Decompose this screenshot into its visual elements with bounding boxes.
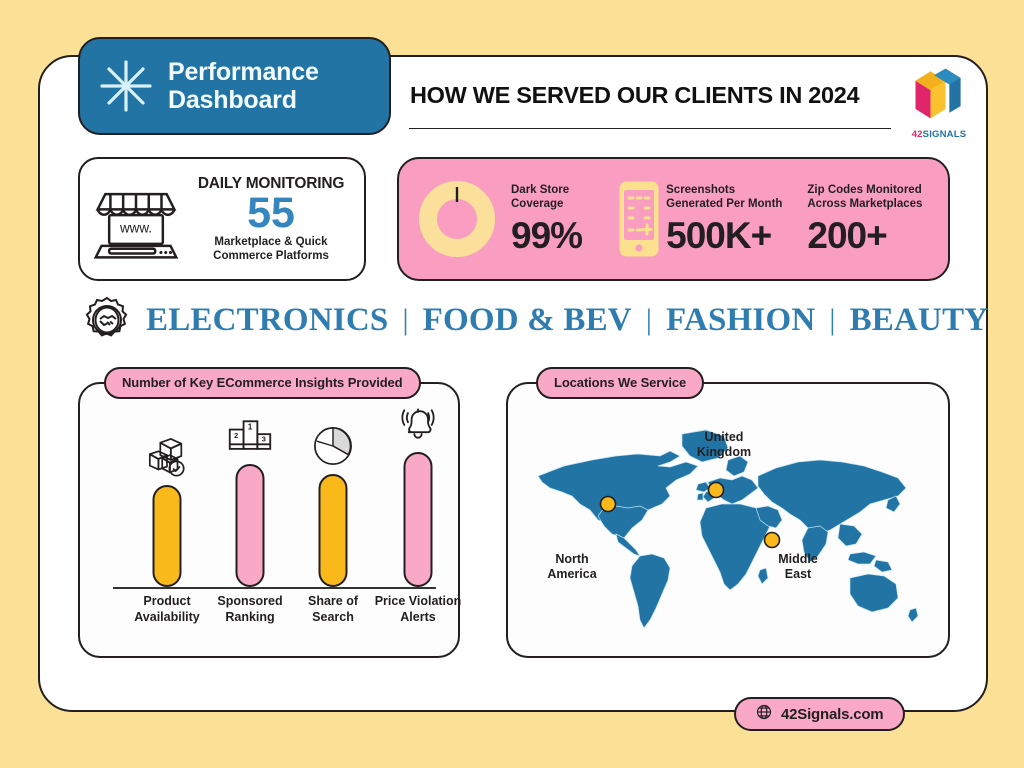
stat-dark-store-coverage: Dark Store Coverage 99% [511,172,614,266]
mobile-screenshot-icon [618,180,660,258]
bar-label-line: Search [308,610,358,626]
svg-text:1: 1 [248,423,253,432]
bar-label-line: Product [134,594,200,610]
map-label-north-america: North America [526,552,618,583]
bar-group: 123SponsoredRanking [209,384,291,660]
bar-label-line: Ranking [217,610,282,626]
key-stats-strip: Dark Store Coverage 99% Screenshots Gene… [397,157,950,281]
bell-alert-icon [397,404,439,449]
logo-wordmark: 42SIGNALS [904,129,974,140]
world-map: North America United Kingdom Middle East [520,404,940,642]
category-separator: | [815,303,849,337]
category-separator: | [388,303,422,337]
bar[interactable] [153,485,182,587]
stat-zip-codes: Zip Codes Monitored Across Marketplaces … [807,172,948,266]
category-list: ELECTRONICS | FOOD & BEV | FASHION | BEA… [146,302,988,339]
map-label-line1: Middle [752,552,844,567]
badge-line1: Performance [168,58,319,86]
map-label-line2: Kingdom [678,445,770,460]
map-label-united-kingdom: United Kingdom [678,430,770,461]
bar-group: Share ofSearch [292,384,374,660]
stat-label: Zip Codes Monitored Across Marketplaces [807,184,948,212]
marker-north-america [601,497,616,512]
stat-screenshots: Screenshots Generated Per Month 500K+ [666,172,797,266]
bar-label-line: Sponsored [217,594,282,610]
bar-label-line: Price Violation [375,594,462,610]
daily-monitoring-card: www. DAILY MONITORING 55 Marketplace & Q… [78,157,366,281]
locations-map-panel: Locations We Service [506,382,950,658]
stat-label-line1: Screenshots [666,184,797,198]
stat-label-line1: Zip Codes Monitored [807,184,948,198]
badge-line2: Dashboard [168,86,319,114]
bar-group: Price ViolationAlerts [377,384,459,660]
gear-handshake-icon [80,295,134,345]
categories-row: ELECTRONICS | FOOD & BEV | FASHION | BEA… [80,293,960,347]
hexagon-logo-icon [904,62,974,124]
title-divider [409,128,891,129]
stat-value: 500K+ [666,217,797,254]
category-separator: | [632,303,666,337]
monitoring-subtitle-line2: Commerce Platforms [184,249,358,263]
bar-label: Share ofSearch [308,594,358,625]
bar-label-line: Availability [134,610,200,626]
starburst-icon [98,58,154,114]
svg-text:3: 3 [262,435,266,444]
marker-united-kingdom [709,483,724,498]
category-fashion[interactable]: FASHION [666,302,815,339]
map-label-line2: America [526,567,618,582]
bar-label-line: Alerts [375,610,462,626]
logo-wordmark-suffix: SIGNALS [923,129,967,140]
stat-label-line1: Dark Store [511,184,614,198]
brand-logo: 42SIGNALS [904,62,974,140]
bar[interactable] [404,452,433,587]
donut-chart-icon [417,179,497,259]
performance-dashboard-badge: Performance Dashboard [78,37,391,135]
category-food-bev[interactable]: FOOD & BEV [423,302,632,339]
stat-value: 99% [511,217,614,254]
bar-label: Price ViolationAlerts [375,594,462,625]
monitoring-subtitle-line1: Marketplace & Quick [184,235,358,249]
map-label-line1: United [678,430,770,445]
bar-chart-plot: ProductAvailability123SponsoredRankingSh… [80,384,458,656]
website-badge[interactable]: 42Signals.com [734,697,905,731]
logo-wordmark-prefix: 42 [912,129,923,140]
stat-label-line2: Coverage [511,198,614,212]
pie-chart-icon [313,426,353,471]
storefront-laptop-icon: www. [88,173,184,265]
map-label-middle-east: Middle East [752,552,844,583]
bar[interactable] [236,464,265,587]
map-label-line2: East [752,567,844,582]
category-electronics[interactable]: ELECTRONICS [146,302,388,339]
stat-label-line2: Generated Per Month [666,198,797,212]
globe-icon [756,704,772,725]
bar[interactable] [319,474,348,587]
map-label-line1: North [526,552,618,567]
category-beauty[interactable]: BEAUTY [850,302,989,339]
page-title: HOW WE SERVED OUR CLIENTS IN 2024 [410,82,895,109]
bar-label: ProductAvailability [134,594,200,625]
monitoring-count: 55 [184,192,358,234]
svg-text:2: 2 [234,431,238,440]
bar-label: SponsoredRanking [217,594,282,625]
bar-label-line: Share of [308,594,358,610]
insights-bar-chart-panel: Number of Key ECommerce Insights Provide… [78,382,460,658]
stat-label: Screenshots Generated Per Month [666,184,797,212]
marker-middle-east [765,533,780,548]
bar-group: ProductAvailability [126,384,208,660]
boxes-check-icon [145,437,189,484]
monitoring-subtitle: Marketplace & Quick Commerce Platforms [184,235,358,264]
monitoring-info: DAILY MONITORING 55 Marketplace & Quick … [184,175,364,264]
stat-label: Dark Store Coverage [511,184,614,212]
map-title: Locations We Service [536,367,704,399]
podium-icon: 123 [227,416,273,461]
stat-value: 200+ [807,217,948,254]
badge-text: Performance Dashboard [168,58,319,114]
website-label: 42Signals.com [781,706,883,723]
stat-label-line2: Across Marketplaces [807,198,948,212]
svg-text:www.: www. [119,220,152,235]
